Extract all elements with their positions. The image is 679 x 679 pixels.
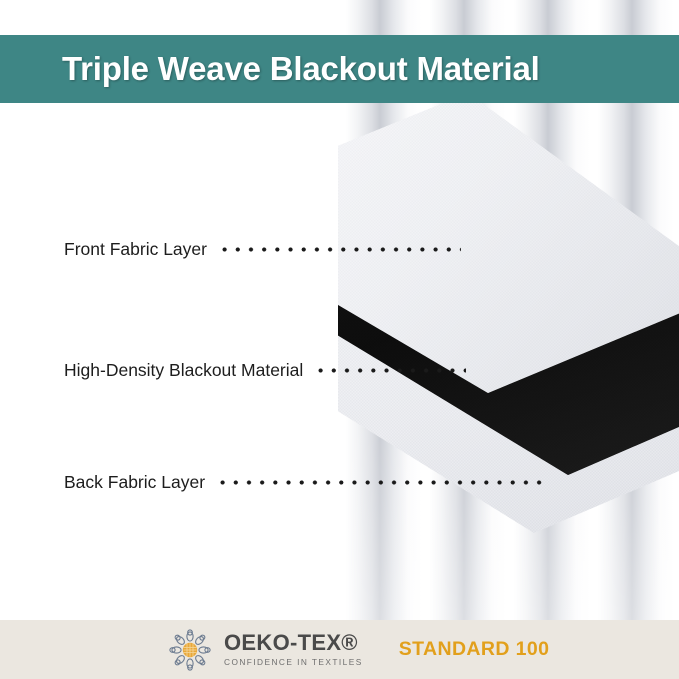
- header-banner: Triple Weave Blackout Material: [0, 35, 679, 103]
- product-infographic: Triple Weave Blackout Material Front Fab…: [0, 0, 679, 679]
- page-title: Triple Weave Blackout Material: [62, 50, 540, 88]
- callout-front-fabric-layer: Front Fabric Layer: [64, 237, 461, 261]
- certification-footer: OEKO-TEX® CONFIDENCE IN TEXTILES STANDAR…: [0, 620, 679, 679]
- oeko-tex-brand-name: OEKO-TEX®: [224, 632, 363, 655]
- oeko-tex-standard-label: STANDARD 100: [399, 638, 550, 661]
- callout-label: High-Density Blackout Material: [64, 360, 303, 381]
- dotted-leader-icon: [218, 247, 461, 252]
- callout-back-fabric-layer: Back Fabric Layer: [64, 470, 546, 494]
- curtain-background-top: [338, 0, 679, 36]
- callout-label: Front Fabric Layer: [64, 239, 207, 260]
- oeko-tex-wordmark: OEKO-TEX® CONFIDENCE IN TEXTILES: [224, 632, 363, 667]
- callout-blackout-material: High-Density Blackout Material: [64, 358, 466, 382]
- callout-label: Back Fabric Layer: [64, 472, 205, 493]
- dotted-leader-icon: [216, 480, 546, 485]
- oeko-tex-flower-icon: [168, 628, 212, 672]
- oeko-tex-tagline: CONFIDENCE IN TEXTILES: [224, 657, 363, 667]
- dotted-leader-icon: [314, 368, 466, 373]
